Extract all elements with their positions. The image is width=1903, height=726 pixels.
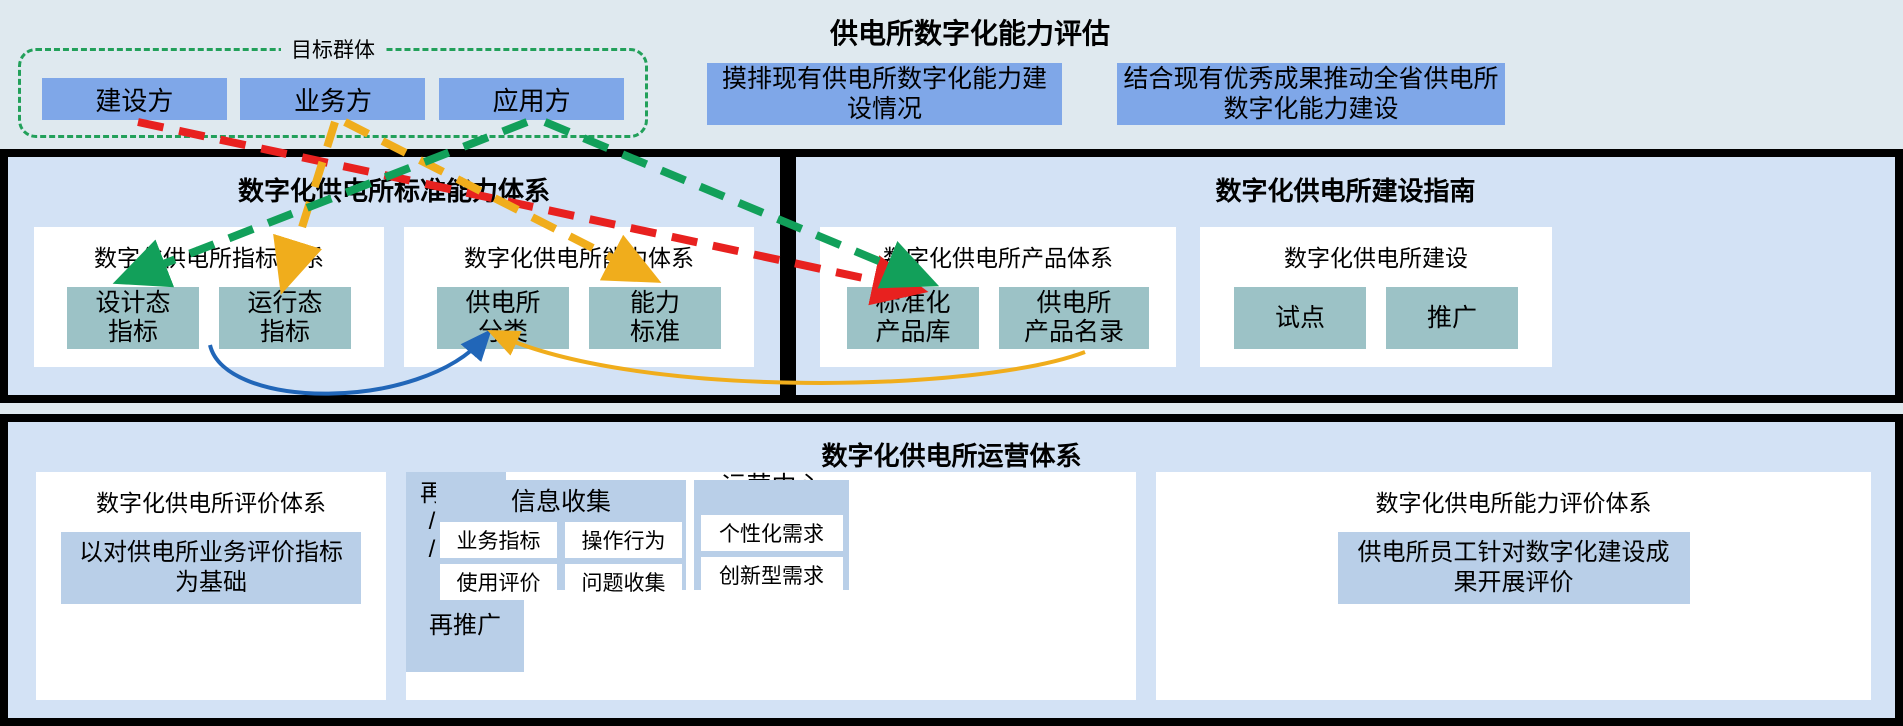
box-standard-product-library[interactable]: 标准化产品库 xyxy=(847,287,979,349)
middle-band: 数字化供电所标准能力体系 数字化供电所指标体系 设计态指标 运行态指标 数字化供… xyxy=(0,149,1903,403)
box-rollout[interactable]: 推广 xyxy=(1386,287,1518,349)
card-indicator-system: 数字化供电所指标体系 设计态指标 运行态指标 xyxy=(34,227,384,367)
group-title: 信息收集 xyxy=(511,482,611,518)
card-station-construction: 数字化供电所建设 试点 推广 xyxy=(1200,227,1552,367)
chip-innovative-demand[interactable]: 创新型需求 xyxy=(701,557,843,593)
card-title: 数字化供电所产品体系 xyxy=(883,239,1113,273)
box-design-state-indicator[interactable]: 设计态指标 xyxy=(67,287,199,349)
card-title: 数字化供电所能力体系 xyxy=(464,239,694,273)
target-member-business[interactable]: 业务方 xyxy=(240,78,425,120)
card-title: 数字化供电所评价体系 xyxy=(96,484,326,518)
box-station-product-catalog[interactable]: 供电所产品名录 xyxy=(999,287,1149,349)
target-member-builder[interactable]: 建设方 xyxy=(42,78,227,120)
group-operations-center: 个性化需求 创新型需求 xyxy=(694,480,849,590)
panel-construction-guide: 数字化供电所建设指南 数字化供电所产品体系 标准化产品库 供电所产品名录 数字化… xyxy=(796,157,1895,395)
group-information-collection: 信息收集 业务指标 操作行为 使用评价 问题收集 xyxy=(436,480,686,590)
target-member-application[interactable]: 应用方 xyxy=(439,78,624,120)
card-product-system: 数字化供电所产品体系 标准化产品库 供电所产品名录 xyxy=(820,227,1176,367)
callout-survey-status: 摸排现有供电所数字化能力建设情况 xyxy=(707,63,1062,125)
panel-operation-system: 数字化供电所运营体系 数字化供电所评价体系 以对供电所业务评价指标为基础 运营中… xyxy=(8,422,1895,718)
chip-business-indicator[interactable]: 业务指标 xyxy=(440,522,557,558)
box-pilot[interactable]: 试点 xyxy=(1234,287,1366,349)
panel-title: 数字化供电所运营体系 xyxy=(8,436,1895,473)
card-capability-evaluation-system: 数字化供电所能力评价体系 供电所员工针对数字化建设成果开展评价 xyxy=(1156,472,1871,700)
chip-issue-collection[interactable]: 问题收集 xyxy=(565,564,682,600)
bottom-band: 数字化供电所运营体系 数字化供电所评价体系 以对供电所业务评价指标为基础 运营中… xyxy=(0,414,1903,726)
note-evaluation-basis: 以对供电所业务评价指标为基础 xyxy=(61,532,361,604)
panel-standard-capability-system: 数字化供电所标准能力体系 数字化供电所指标体系 设计态指标 运行态指标 数字化供… xyxy=(8,157,780,395)
card-operations-center: 运营中心 信息收集 业务指标 操作行为 使用评价 问题收集 xyxy=(406,472,1136,700)
chip-usage-evaluation[interactable]: 使用评价 xyxy=(440,564,557,600)
card-title: 数字化供电所建设 xyxy=(1284,239,1468,273)
target-group-label: 目标群体 xyxy=(281,34,385,64)
note-staff-evaluation: 供电所员工针对数字化建设成果开展评价 xyxy=(1338,532,1690,604)
chip-personalized-demand[interactable]: 个性化需求 xyxy=(701,515,843,551)
panel-title: 数字化供电所标准能力体系 xyxy=(8,171,780,208)
chip-operation-behavior[interactable]: 操作行为 xyxy=(565,522,682,558)
callout-promote-province: 结合现有优秀成果推动全省供电所数字化能力建设 xyxy=(1117,63,1505,125)
card-capability-system: 数字化供电所能力体系 供电所分类 能力标准 xyxy=(404,227,754,367)
page-title: 供电所数字化能力评估 xyxy=(640,12,1300,52)
panel-title: 数字化供电所建设指南 xyxy=(796,171,1895,208)
target-group-container: 目标群体 建设方 业务方 应用方 xyxy=(18,48,648,138)
card-title: 数字化供电所指标体系 xyxy=(94,239,324,273)
box-capability-standard[interactable]: 能力标准 xyxy=(589,287,721,349)
card-evaluation-system: 数字化供电所评价体系 以对供电所业务评价指标为基础 xyxy=(36,472,386,700)
card-title: 数字化供电所能力评价体系 xyxy=(1376,484,1652,518)
box-runtime-state-indicator[interactable]: 运行态指标 xyxy=(219,287,351,349)
box-station-classification[interactable]: 供电所分类 xyxy=(437,287,569,349)
diagram-canvas: 目标群体 建设方 业务方 应用方 供电所数字化能力评估 摸排现有供电所数字化能力… xyxy=(0,0,1903,726)
